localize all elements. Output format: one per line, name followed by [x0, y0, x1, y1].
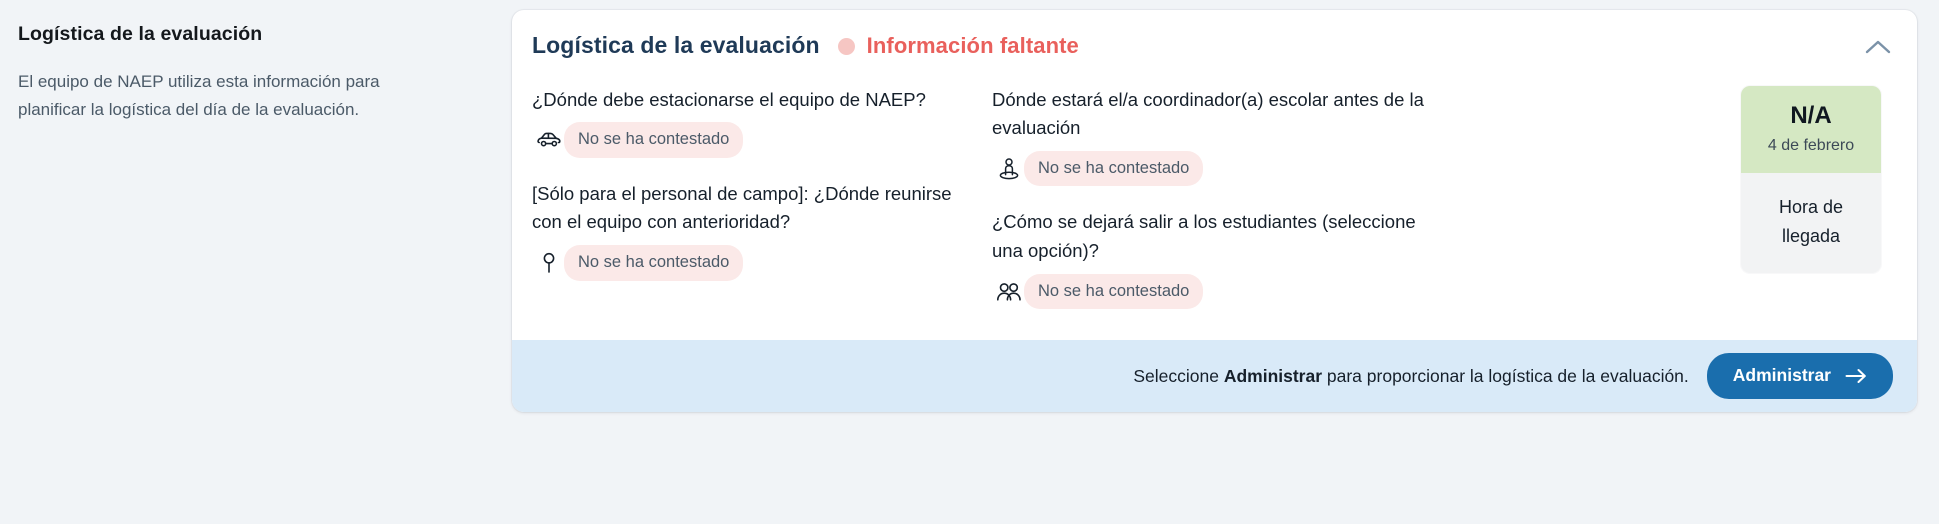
questions-column-right: Dónde estará el/a coordinador(a) escolar…: [992, 86, 1462, 310]
logistics-card: Logística de la evaluación Información f…: [512, 10, 1917, 412]
answer-status-pill: No se ha contestado: [564, 122, 743, 158]
answer-status-pill: No se ha contestado: [1024, 151, 1203, 187]
card-header: Logística de la evaluación Información f…: [512, 10, 1917, 60]
status-label: Información faltante: [867, 33, 1079, 59]
section-description: El equipo de NAEP utiliza esta informaci…: [18, 68, 448, 123]
page-root: Logística de la evaluación El equipo de …: [0, 0, 1939, 524]
answer-row: No se ha contestado: [992, 274, 1448, 310]
card-title: Logística de la evaluación: [532, 32, 820, 60]
administrar-button-label: Administrar: [1733, 365, 1831, 386]
answer-status-pill: No se ha contestado: [564, 245, 743, 281]
question-text: Dónde estará el/a coordinador(a) escolar…: [992, 86, 1448, 143]
question-item: [Sólo para el personal de campo]: ¿Dónde…: [532, 180, 982, 281]
questions-column-left: ¿Dónde debe estacionarse el equipo de NA…: [532, 86, 992, 281]
chevron-up-icon: [1865, 39, 1891, 55]
footer-instruction-suffix: para proporcionar la logística de la eva…: [1322, 366, 1689, 386]
arrival-time-value: N/A: [1747, 103, 1875, 129]
answer-row: No se ha contestado: [532, 122, 982, 158]
question-text: ¿Cómo se dejará salir a los estudiantes …: [992, 208, 1448, 265]
section-description-panel: Logística de la evaluación El equipo de …: [0, 0, 512, 524]
arrival-time-tile: N/A 4 de febrero Hora de llegada: [1741, 86, 1881, 273]
people-icon: [994, 282, 1024, 302]
answer-row: No se ha contestado: [532, 245, 982, 281]
footer-instruction-emphasis: Administrar: [1224, 366, 1322, 386]
person-location-icon: [994, 157, 1024, 181]
question-item: Dónde estará el/a coordinador(a) escolar…: [992, 86, 1448, 187]
arrival-date: 4 de febrero: [1747, 136, 1875, 155]
answer-status-pill: No se ha contestado: [1024, 274, 1203, 310]
card-footer: Seleccione Administrar para proporcionar…: [512, 340, 1917, 412]
footer-instruction-prefix: Seleccione: [1133, 366, 1223, 386]
answer-row: No se ha contestado: [992, 151, 1448, 187]
arrow-right-icon: [1845, 368, 1867, 384]
collapse-toggle-button[interactable]: [1861, 30, 1895, 64]
arrival-tile-column: N/A 4 de febrero Hora de llegada: [1462, 86, 1897, 273]
question-text: [Sólo para el personal de campo]: ¿Dónde…: [532, 180, 982, 237]
question-text: ¿Dónde debe estacionarse el equipo de NA…: [532, 86, 982, 115]
question-item: ¿Dónde debe estacionarse el equipo de NA…: [532, 86, 982, 158]
status-dot-icon: [838, 38, 855, 55]
arrival-tile-label: Hora de llegada: [1741, 173, 1881, 273]
status-badge: Información faltante: [838, 33, 1079, 59]
administrar-button[interactable]: Administrar: [1707, 353, 1893, 399]
footer-instruction: Seleccione Administrar para proporcionar…: [1133, 366, 1688, 387]
question-item: ¿Cómo se dejará salir a los estudiantes …: [992, 208, 1448, 309]
card-body: ¿Dónde debe estacionarse el equipo de NA…: [512, 60, 1917, 340]
card-container: Logística de la evaluación Información f…: [512, 0, 1939, 524]
map-pin-icon: [534, 252, 564, 274]
arrival-tile-top: N/A 4 de febrero: [1741, 86, 1881, 174]
page-title: Logística de la evaluación: [18, 22, 478, 46]
car-icon: [534, 131, 564, 149]
